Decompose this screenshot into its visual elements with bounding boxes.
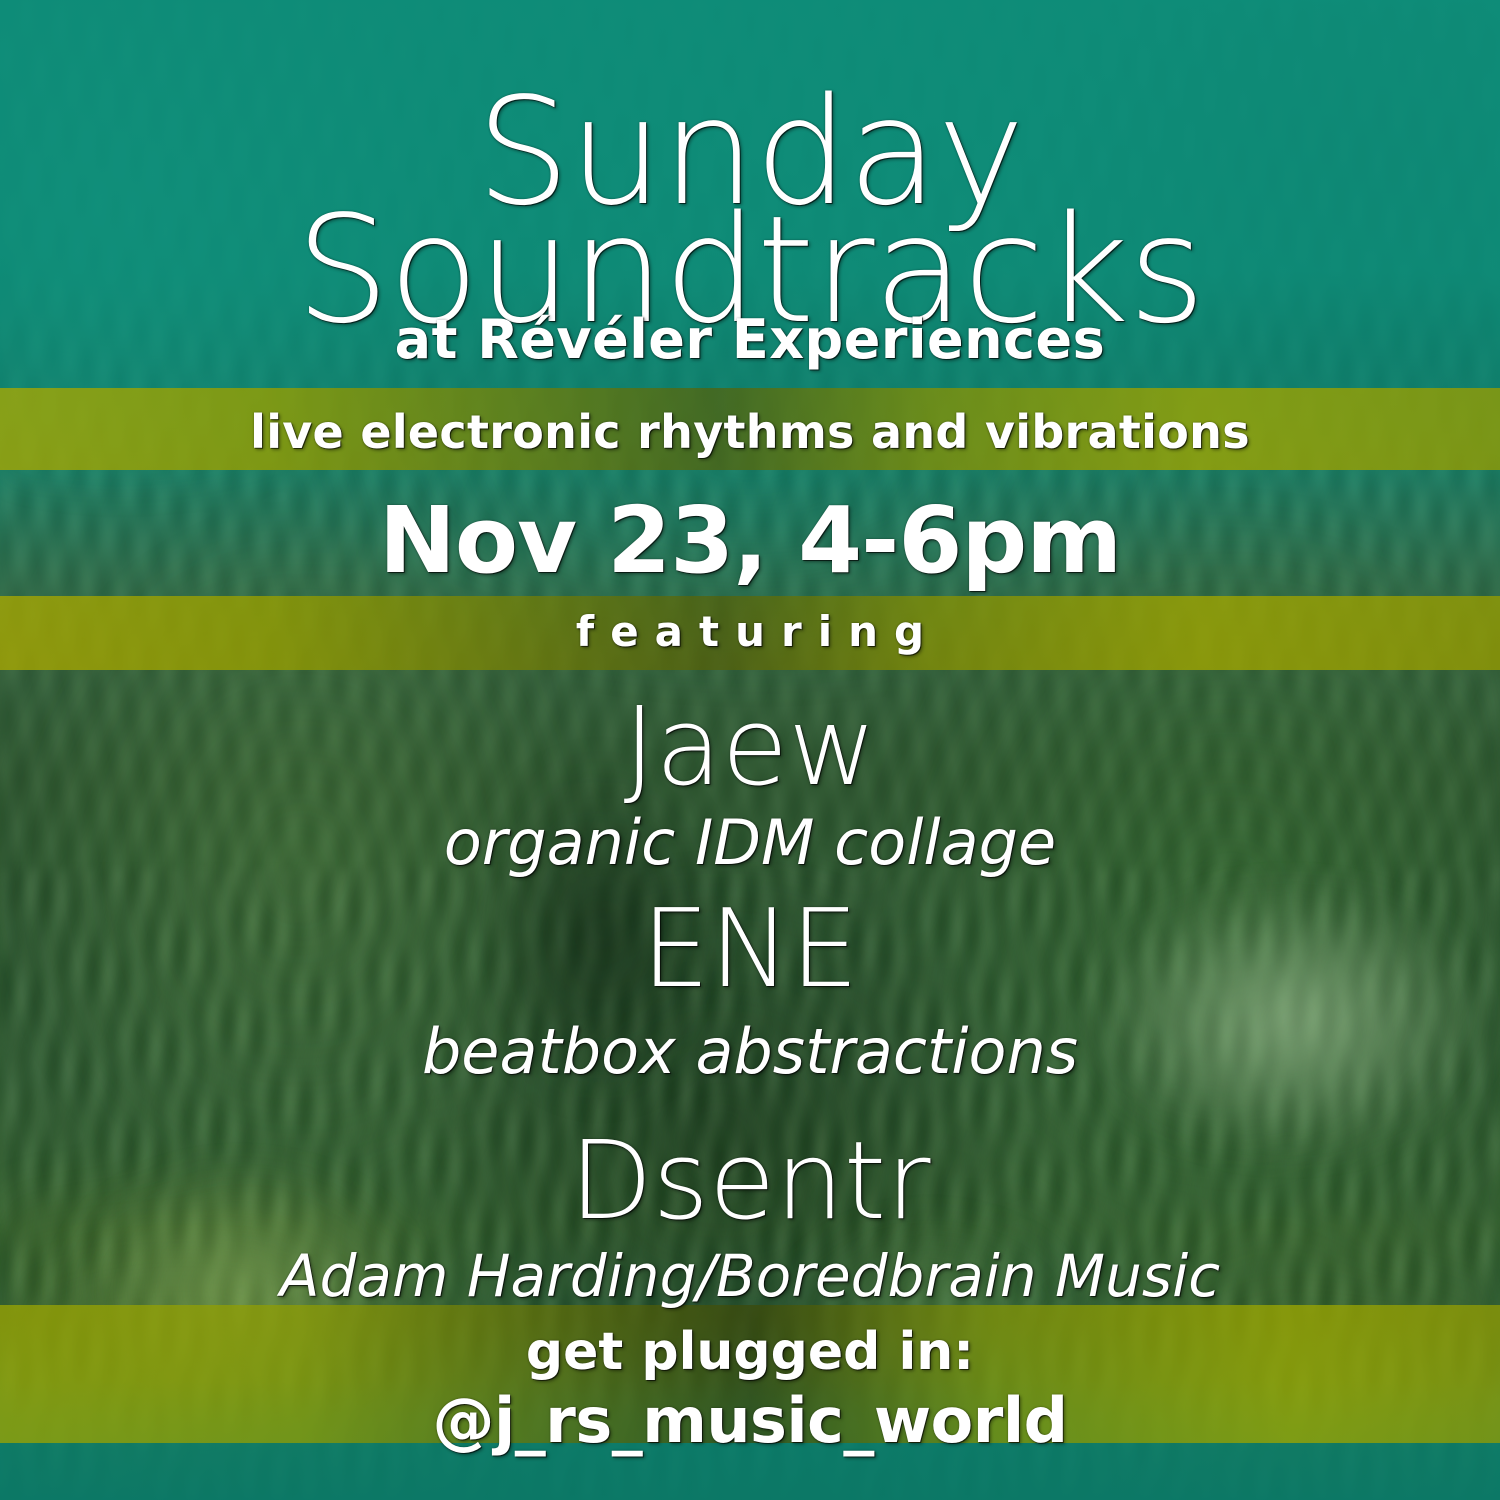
- event-date-time: Nov 23, 4-6pm: [0, 495, 1500, 587]
- artist-name: Jaew: [0, 694, 1500, 802]
- artist-description: organic IDM collage: [0, 812, 1500, 874]
- venue-name: at Révéler Experiences: [0, 313, 1500, 367]
- artist-description: beatbox abstractions: [0, 1021, 1500, 1083]
- event-poster: Sunday Soundtracks at Révéler Experience…: [0, 0, 1500, 1500]
- event-tagline: live electronic rhythms and vibrations: [0, 409, 1500, 455]
- artist-name: Dsentr: [0, 1128, 1500, 1236]
- artist-description: Adam Harding/Boredbrain Music: [0, 1247, 1500, 1305]
- call-to-action-label: get plugged in:: [0, 1326, 1500, 1378]
- artist-name: ENE: [0, 896, 1500, 1004]
- featuring-label: featuring: [0, 611, 1500, 653]
- social-handle[interactable]: @j_rs_music_world: [0, 1390, 1500, 1452]
